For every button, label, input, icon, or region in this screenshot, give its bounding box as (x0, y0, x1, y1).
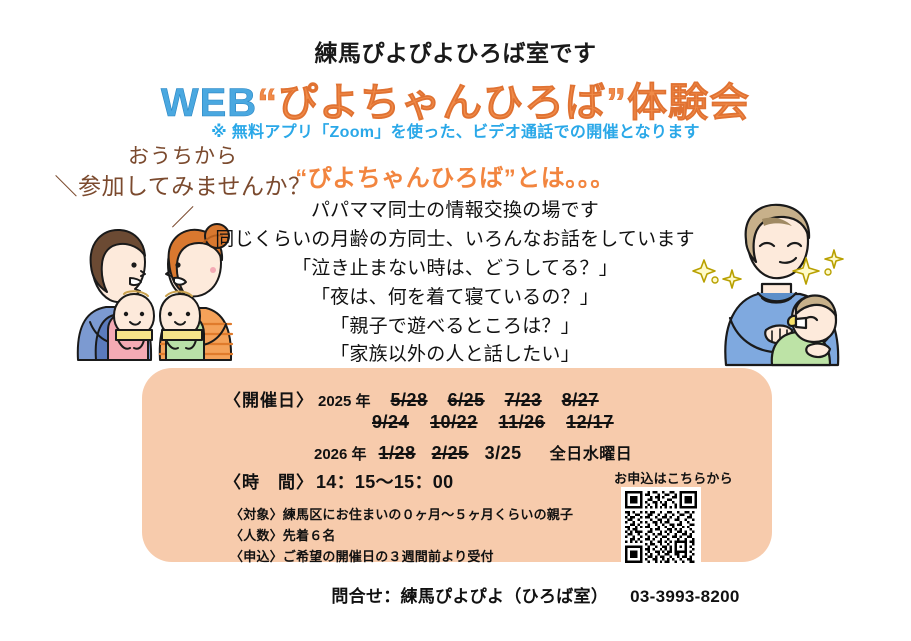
detail-target-audience: 〈対象〉練馬区にお住まいの０ヶ月～５ヶ月くらいの親子 (230, 504, 573, 525)
about-line: 「泣き止まない時は、どうしてる？」 (205, 255, 705, 284)
event-dates-row-3: 2026 年1/282/253/25全日水曜日 (314, 440, 632, 464)
footer-phone-number: 03-3993-8200 (630, 587, 739, 606)
event-detail-list: 〈対象〉練馬区にお住まいの０ヶ月～５ヶ月くらいの親子 〈人数〉先着６名 〈申込〉… (230, 504, 573, 567)
event-dates-row-2: 9/2410/2211/2612/17 (372, 412, 635, 433)
date-chip: 3/25 (485, 443, 522, 464)
date-chip: 12/17 (566, 412, 614, 433)
footer-contact: 問合せ：練馬ぴよぴよ（ひろば室）03-3993-8200 (0, 582, 911, 607)
qr-code-label: お申込はこちらから (614, 468, 733, 487)
about-line: 「親子で遊べるところは？」 (205, 313, 705, 342)
date-chip: 6/25 (448, 390, 485, 411)
flyer-page: 練馬ぴよぴよひろば室です WEB“ぴよちゃんひろば”体験会 ※ 無料アプリ「Zo… (0, 0, 911, 641)
date-chip: 2/25 (432, 443, 469, 464)
date-chip: 9/24 (372, 412, 409, 433)
event-dates-row-1: 〈開催日〉2025 年5/286/257/238/27 (224, 386, 599, 411)
about-line: 同じくらいの月齢の方同士、いろんなお話をしています (205, 226, 705, 255)
detail-capacity: 〈人数〉先着６名 (230, 525, 573, 546)
footer-contact-text: 問合せ：練馬ぴよぴよ（ひろば室） (331, 587, 608, 606)
about-line: パパママ同士の情報交換の場です (205, 197, 705, 226)
qr-code-icon[interactable] (621, 487, 701, 567)
date-chip: 1/28 (379, 443, 416, 464)
event-time-label: 〈時 間〉 (224, 468, 314, 493)
about-section: “ぴよちゃんひろば”とは。。。 パパママ同士の情報交換の場です 同じくらいの月齢… (205, 158, 705, 399)
date-chip: 5/28 (391, 390, 428, 411)
zoom-app-note: ※ 無料アプリ「Zoom」を使った、ビデオ通話での開催となります (0, 118, 911, 142)
date-chip: 7/23 (505, 390, 542, 411)
event-time-row: 〈時 間〉14：15～15：00 (224, 468, 453, 494)
event-date-label: 〈開催日〉 (224, 386, 314, 411)
date-chip: 8/27 (562, 390, 599, 411)
detail-application: 〈申込〉ご希望の開催日の３週間前より受付 (230, 546, 573, 567)
all-wednesdays-note: 全日水曜日 (550, 440, 633, 464)
event-time-value: 14：15～15：00 (316, 472, 453, 492)
illustration-father-feeding-baby (688, 192, 878, 367)
year-2026-label: 2026 年 (314, 443, 367, 464)
about-line: 「夜は、何を着て寝ているの？」 (205, 284, 705, 313)
about-title: “ぴよちゃんひろば”とは。。。 (205, 158, 705, 193)
date-chip: 10/22 (430, 412, 478, 433)
about-line: 「家族以外の人と話したい」 (205, 341, 705, 370)
org-subtitle: 練馬ぴよぴよひろば室です (0, 34, 911, 68)
year-2025-label: 2025 年 (318, 390, 371, 411)
date-chip: 11/26 (499, 412, 546, 433)
